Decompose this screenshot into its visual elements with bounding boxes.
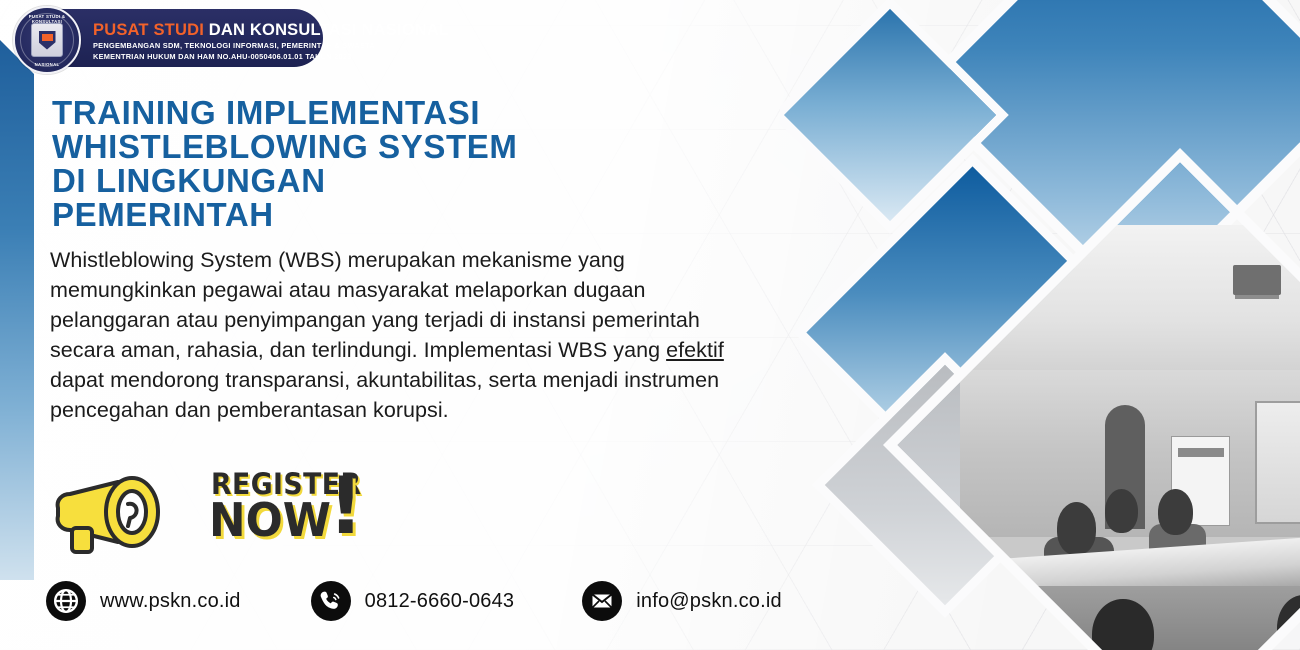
megaphone-icon bbox=[48, 468, 176, 556]
brand-legal-notice: KEMENTRIAN HUKUM DAN HAM NO.AHU-0050406.… bbox=[93, 51, 349, 62]
title-line-2: WHISTLEBLOWING SYSTEM bbox=[52, 130, 692, 164]
register-now-text: REGISTER NOW ! bbox=[176, 462, 326, 558]
left-accent-strip bbox=[0, 40, 34, 580]
brand-tagline: PENGEMBANGAN SDM, TEKNOLOGI INFORMASI, P… bbox=[93, 40, 349, 51]
title-line-4: PEMERINTAH bbox=[52, 198, 692, 232]
brand-name-highlight: PUSAT STUDI bbox=[93, 21, 204, 39]
phone-icon bbox=[311, 581, 351, 621]
register-now-callout[interactable]: REGISTER NOW ! bbox=[48, 462, 318, 562]
now-label: NOW bbox=[209, 497, 331, 543]
brand-text-block: PUSAT STUDI DAN KONSULTASI NASIONAL PENG… bbox=[93, 21, 349, 75]
title-line-1: TRAINING IMPLEMENTASI bbox=[52, 96, 692, 130]
body-text-emphasis: efektif bbox=[666, 338, 724, 362]
presentation-screen bbox=[1255, 401, 1300, 524]
body-text-part-2: dapat mendorong transparansi, akuntabili… bbox=[50, 368, 719, 422]
mail-icon bbox=[582, 581, 622, 621]
contact-email-label: info@pskn.co.id bbox=[636, 590, 782, 613]
promo-poster: PUSAT STUDI DAN KONSULTASI NASIONAL PENG… bbox=[0, 0, 1300, 650]
decorative-geometry bbox=[780, 0, 1300, 650]
shield-icon bbox=[39, 31, 56, 50]
contact-phone-label: 0812-6660-0643 bbox=[365, 590, 515, 613]
seal-emblem bbox=[31, 23, 63, 57]
contact-phone[interactable]: 0812-6660-0643 bbox=[311, 581, 515, 621]
page-title: TRAINING IMPLEMENTASI WHISTLEBLOWING SYS… bbox=[52, 96, 692, 232]
projector-icon bbox=[1233, 265, 1281, 296]
brand-name-rest: DAN KONSULTASI NASIONAL bbox=[209, 21, 449, 39]
title-line-3: DI LINGKUNGAN bbox=[52, 164, 692, 198]
body-paragraph: Whistleblowing System (WBS) merupakan me… bbox=[50, 245, 740, 425]
contact-website[interactable]: www.pskn.co.id bbox=[46, 581, 241, 621]
body-text-part-1: Whistleblowing System (WBS) merupakan me… bbox=[50, 248, 700, 362]
contact-website-label: www.pskn.co.id bbox=[100, 590, 241, 613]
globe-icon bbox=[46, 581, 86, 621]
contact-footer: www.pskn.co.id 0812-6660-0643 bbox=[46, 578, 782, 624]
contact-email[interactable]: info@pskn.co.id bbox=[582, 581, 782, 621]
seal-bottom-text: NASIONAL bbox=[15, 62, 79, 67]
brand-seal-logo: PUSAT STUDI & KONSULTASI NASIONAL bbox=[13, 6, 81, 74]
brand-name: PUSAT STUDI DAN KONSULTASI NASIONAL bbox=[93, 21, 349, 40]
exclamation-mark: ! bbox=[328, 468, 364, 546]
